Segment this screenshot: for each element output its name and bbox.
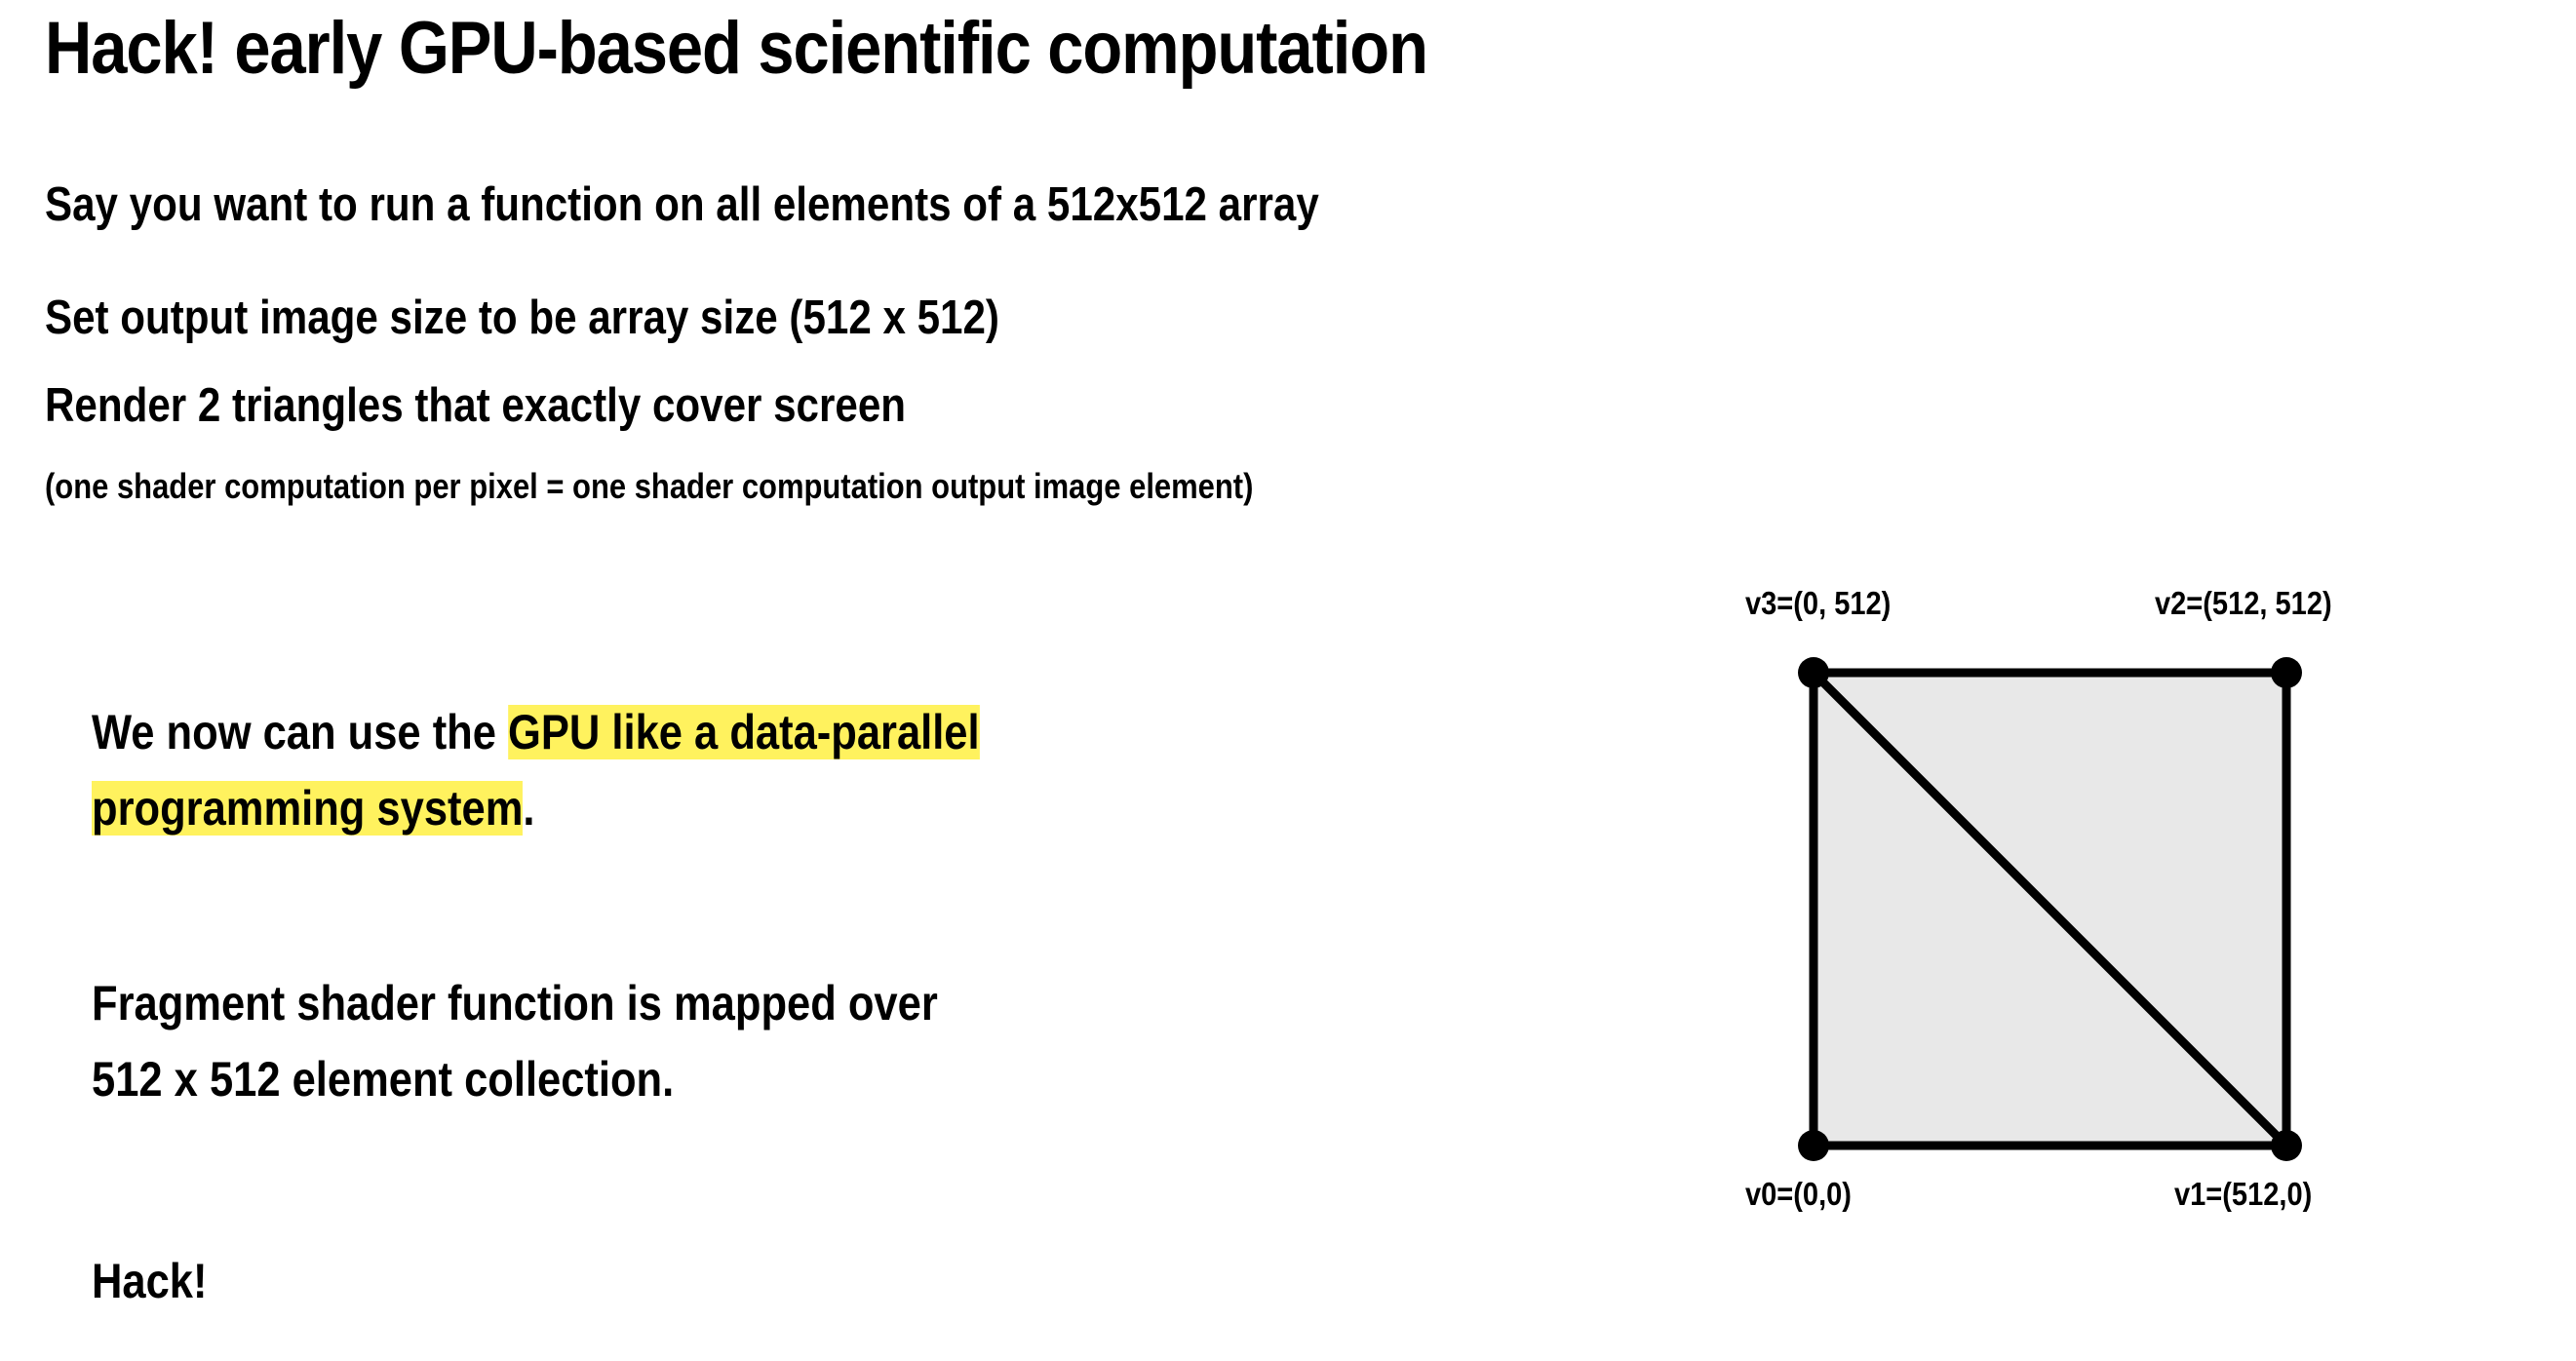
statement-line-1: We now can use the GPU like a data-paral… [92,694,940,770]
vertex-dot-v0 [1798,1130,1829,1161]
highlighted-statement: We now can use the GPU like a data-paral… [92,694,940,846]
statement-line-2: programming system. [92,770,940,846]
body-line-parenthetical: (one shader computation per pixel = one … [45,466,1253,507]
vertex-dot-v1 [2271,1130,2302,1161]
page-title: Hack! early GPU-based scientific computa… [45,6,1427,91]
hack-exclamation-line: Hack! [92,1253,207,1309]
slide-canvas: Hack! early GPU-based scientific computa… [0,0,2576,1361]
fragment-line-1: Fragment shader function is mapped over [92,965,938,1041]
statement-highlight-part-1: GPU like a data-parallel [508,705,980,759]
body-line-say: Say you want to run a function on all el… [45,177,1319,232]
vertex-dot-v2 [2271,657,2302,688]
quad-triangle-diagram [1697,575,2457,1238]
statement-plain-text: We now can use the [92,705,508,759]
vertex-dot-v3 [1798,657,1829,688]
quad-diagram-svg [1697,575,2457,1238]
statement-highlight-part-2: programming system [92,781,523,836]
vertex-label-v3: v3=(0, 512) [1745,585,1891,622]
fragment-shader-paragraph: Fragment shader function is mapped over … [92,965,938,1117]
vertex-label-v1: v1=(512,0) [2174,1176,2312,1213]
vertex-label-v2: v2=(512, 512) [2155,585,2332,622]
body-line-render-triangles: Render 2 triangles that exactly cover sc… [45,378,906,433]
statement-period: . [523,781,534,836]
vertex-label-v0: v0=(0,0) [1745,1176,1852,1213]
fragment-line-2: 512 x 512 element collection. [92,1041,938,1117]
body-line-set-output-size: Set output image size to be array size (… [45,291,999,345]
